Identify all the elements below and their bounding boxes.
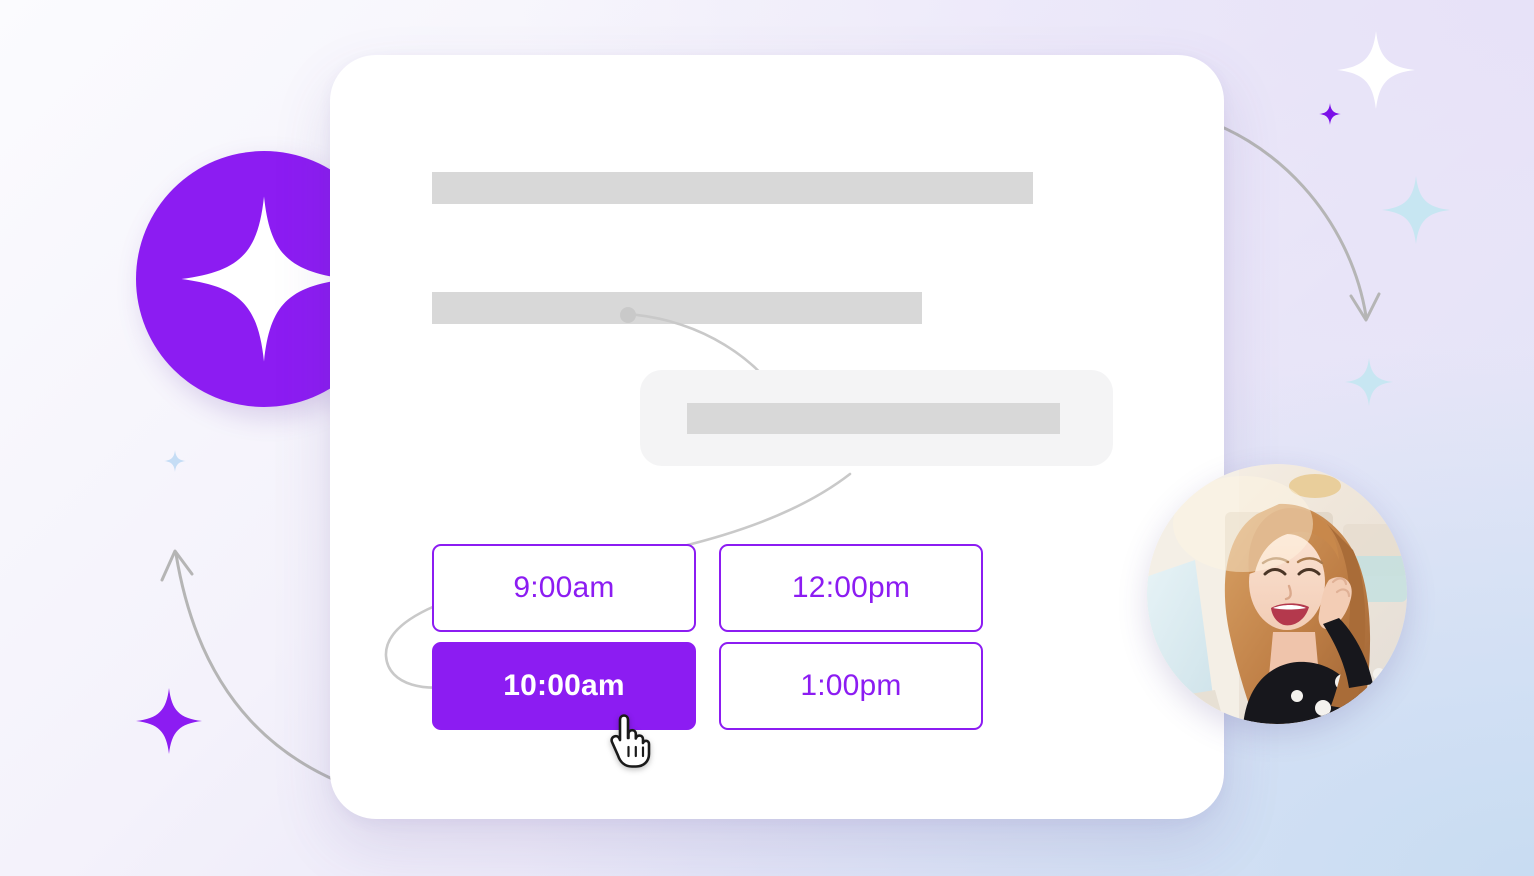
pointing-hand-cursor-icon	[608, 714, 652, 768]
timeslot-button-3-selected[interactable]: 10:00am	[432, 642, 696, 730]
sparkle-blue-medium-icon	[1382, 176, 1450, 244]
avatar	[1147, 464, 1407, 724]
sparkle-white-large-icon	[1337, 31, 1415, 109]
sparkle-purple-large-icon	[136, 688, 202, 754]
timeslot-button-1[interactable]: 9:00am	[432, 544, 696, 632]
timeslot-button-2[interactable]: 12:00pm	[719, 544, 983, 632]
four-point-star-icon	[178, 193, 350, 365]
timeslot-grid: 9:00am 12:00pm 10:00am 1:00pm	[432, 544, 983, 730]
heading-placeholder	[432, 172, 1033, 204]
bubble-connector-dot	[620, 307, 636, 323]
bubble-text-placeholder	[687, 403, 1060, 434]
screen-root: 9:00am 12:00pm 10:00am 1:00pm	[0, 0, 1534, 876]
app-card: 9:00am 12:00pm 10:00am 1:00pm	[330, 55, 1224, 819]
timeslot-button-4[interactable]: 1:00pm	[719, 642, 983, 730]
sparkle-blue-small-icon	[1345, 358, 1393, 406]
sparkle-purple-small-icon	[1319, 103, 1341, 125]
sparkle-blue-tiny-icon	[164, 450, 186, 472]
